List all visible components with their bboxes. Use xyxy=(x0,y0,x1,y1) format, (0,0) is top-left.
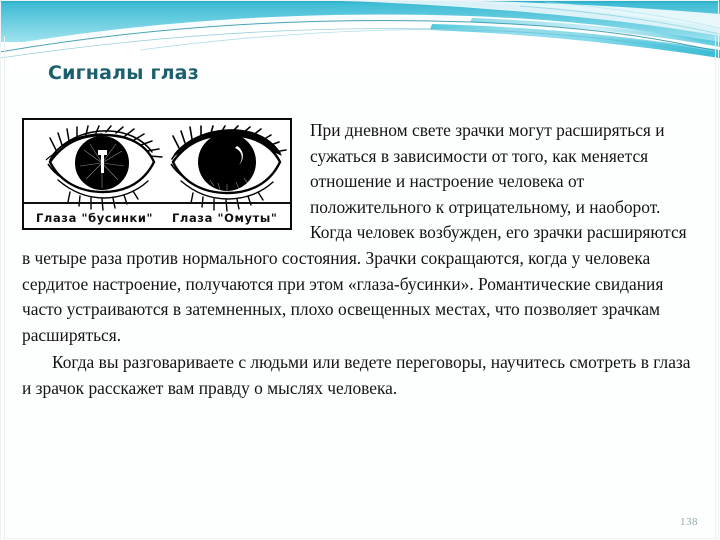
slide-inner-rule-right xyxy=(715,36,716,538)
presentation-slide: Сигналы глаз xyxy=(0,0,720,540)
figure-text-wrap-spacer xyxy=(22,118,310,232)
slide-number: 138 xyxy=(680,516,698,528)
paragraph-two: Когда вы разговариваете с людьми или вед… xyxy=(22,350,698,401)
page-title: Сигналы глаз xyxy=(48,62,199,84)
slide-body-text: При дневном свете зрачки могут расширять… xyxy=(22,118,698,402)
slide-inner-rule-left xyxy=(4,36,5,538)
